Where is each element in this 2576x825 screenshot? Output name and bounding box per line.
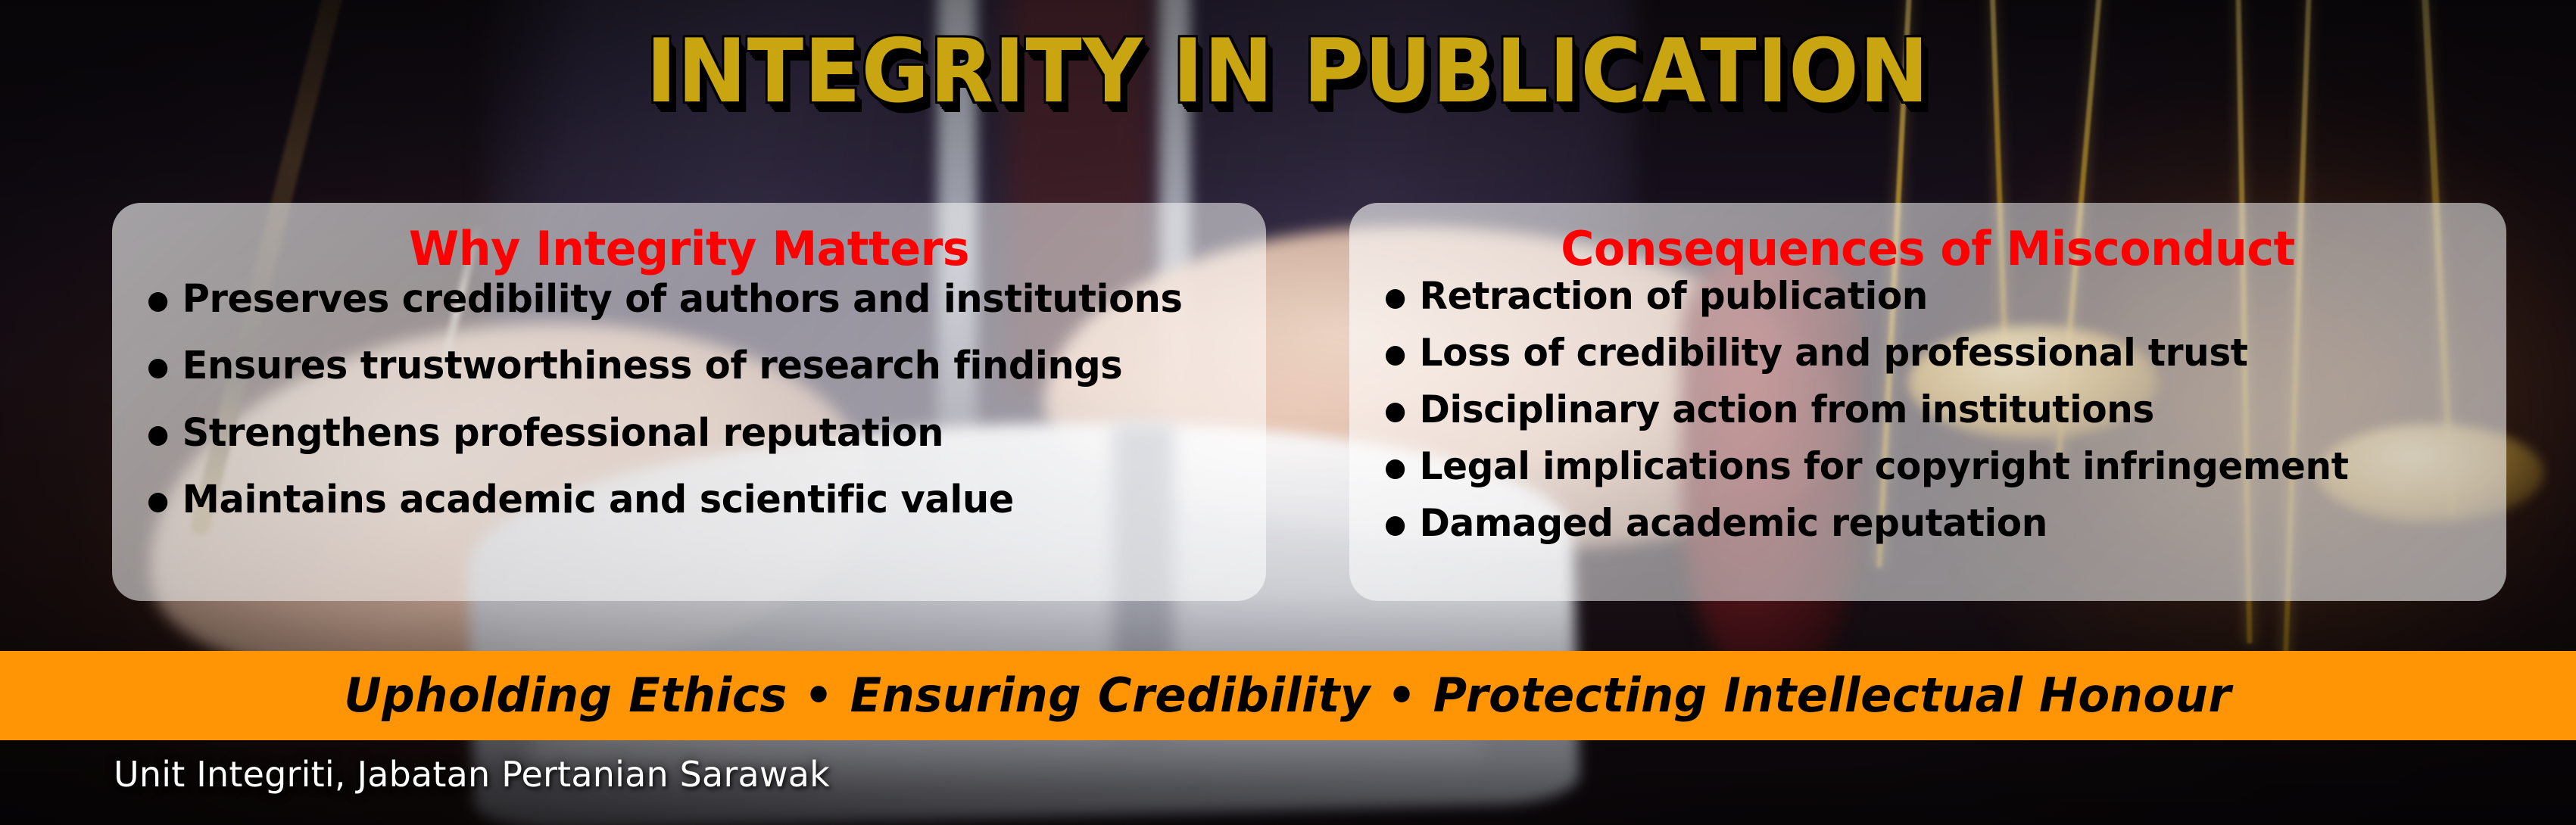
- list-item: Loss of credibility and professional tru…: [1386, 333, 2448, 373]
- bullet-dot-icon: [1386, 289, 1405, 309]
- content-cards: Why Integrity Matters Preserves credibil…: [0, 203, 2576, 601]
- list-item-label: Retraction of publication: [1420, 276, 2448, 316]
- list-item: Preserves credibility of authors and ins…: [148, 279, 1208, 320]
- card-right-bullet-list: Retraction of publication Loss of credib…: [1375, 276, 2481, 543]
- tagline-text: Upholding Ethics • Ensuring Credibility …: [345, 672, 2231, 719]
- list-item-label: Maintains academic and scientific value: [182, 480, 1208, 521]
- card-right-heading: Consequences of Misconduct: [1392, 223, 2464, 275]
- list-item: Damaged academic reputation: [1386, 503, 2448, 543]
- bullet-dot-icon: [1386, 516, 1405, 536]
- card-left-bullet-list: Preserves credibility of authors and ins…: [138, 279, 1240, 520]
- list-item: Maintains academic and scientific value: [148, 480, 1208, 521]
- list-item: Retraction of publication: [1386, 276, 2448, 316]
- card-consequences-of-misconduct: Consequences of Misconduct Retraction of…: [1349, 203, 2506, 601]
- list-item: Legal implications for copyright infring…: [1386, 447, 2448, 487]
- list-item-label: Legal implications for copyright infring…: [1420, 447, 2448, 487]
- list-item: Ensures trustworthiness of research find…: [148, 346, 1208, 387]
- footer: Unit Integriti, Jabatan Pertanian Sarawa…: [114, 757, 830, 792]
- poster-title-area: INTEGRITY IN PUBLICATION: [0, 27, 2576, 117]
- list-item-label: Disciplinary action from institutions: [1420, 390, 2448, 430]
- bullet-dot-icon: [148, 493, 167, 512]
- list-item-label: Preserves credibility of authors and ins…: [182, 279, 1208, 320]
- list-item-label: Loss of credibility and professional tru…: [1420, 333, 2448, 373]
- card-why-integrity-matters: Why Integrity Matters Preserves credibil…: [112, 203, 1266, 601]
- bullet-dot-icon: [1386, 459, 1405, 479]
- bullet-dot-icon: [1386, 346, 1405, 366]
- list-item: Disciplinary action from institutions: [1386, 390, 2448, 430]
- bullet-dot-icon: [148, 359, 167, 378]
- list-item: Strengthens professional reputation: [148, 413, 1208, 454]
- list-item-label: Damaged academic reputation: [1420, 503, 2448, 543]
- bullet-dot-icon: [148, 426, 167, 446]
- bullet-dot-icon: [1386, 403, 1405, 422]
- list-item-label: Strengthens professional reputation: [182, 413, 1208, 454]
- footer-attribution: Unit Integriti, Jabatan Pertanian Sarawa…: [114, 757, 830, 792]
- card-left-heading: Why Integrity Matters: [154, 223, 1224, 275]
- tagline-banner: Upholding Ethics • Ensuring Credibility …: [0, 651, 2576, 740]
- bullet-dot-icon: [148, 292, 167, 312]
- poster-title: INTEGRITY IN PUBLICATION: [647, 27, 1930, 117]
- list-item-label: Ensures trustworthiness of research find…: [182, 346, 1208, 387]
- poster-root: INTEGRITY IN PUBLICATION Why Integrity M…: [0, 0, 2576, 825]
